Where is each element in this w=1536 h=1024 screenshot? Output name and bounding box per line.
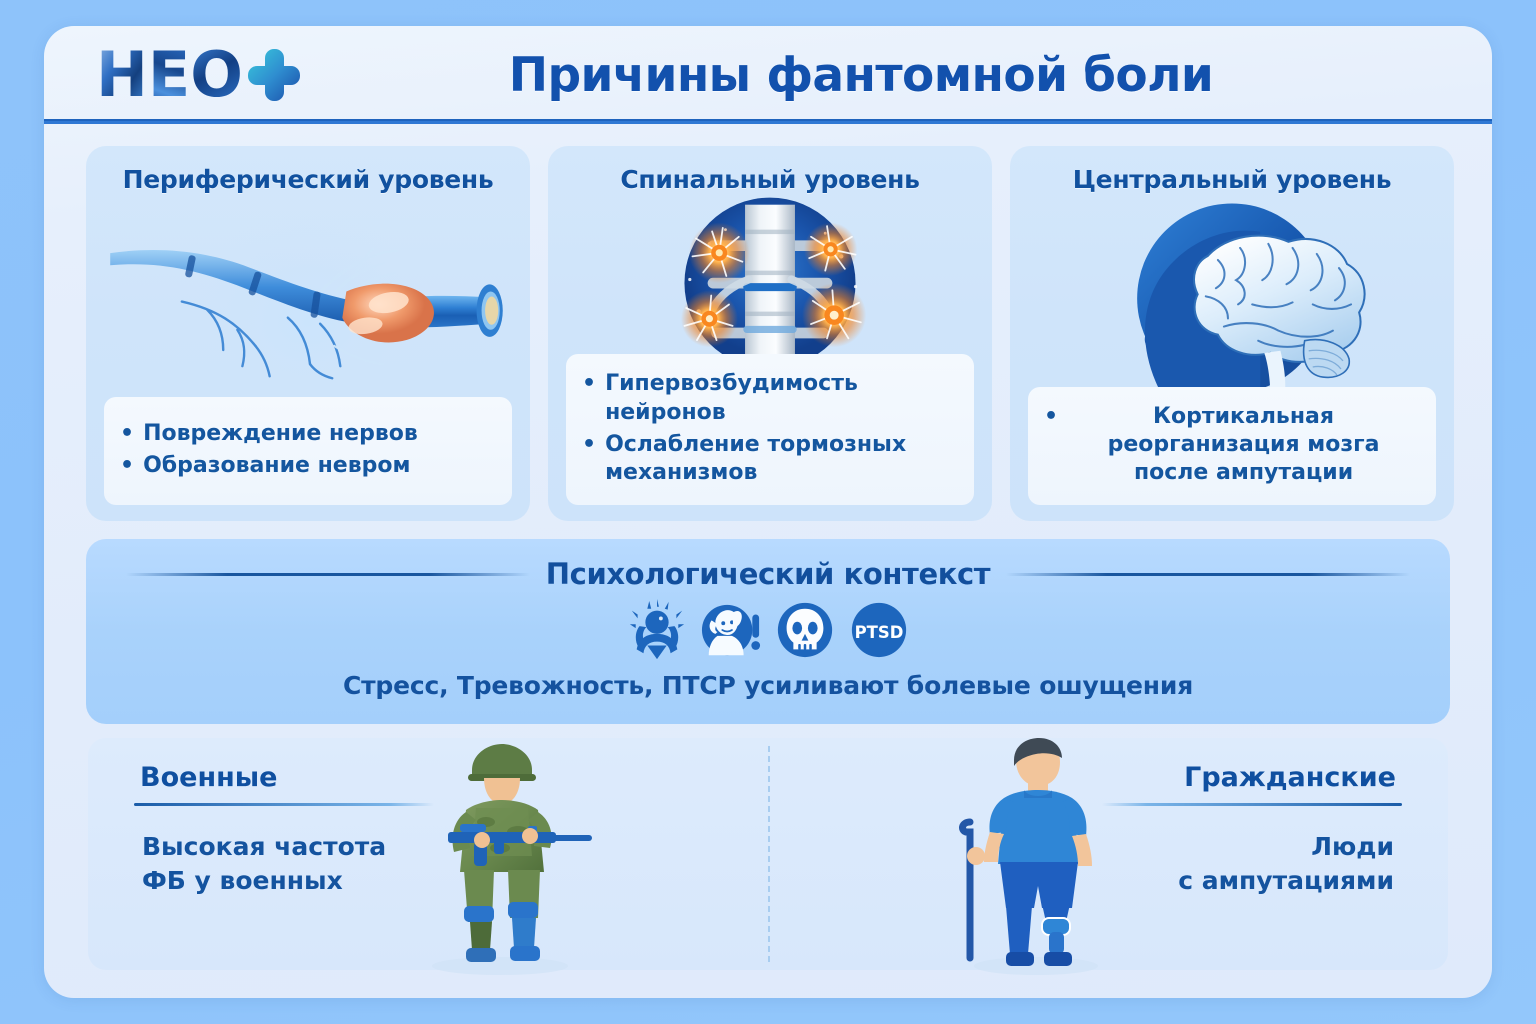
group-underline <box>1102 803 1402 806</box>
poster-card: Н Е О Причины фантомной боли Периферичес… <box>44 26 1492 998</box>
psychological-context-panel: Психологический контекст <box>86 539 1450 724</box>
psych-header: Психологический контекст <box>86 557 1450 591</box>
level-bullets: • Гипервозбудимость нейронов • Ослаблени… <box>566 354 974 505</box>
level-card-spinal: Спинальный уровень <box>548 146 992 521</box>
skull-icon <box>774 599 836 661</box>
group-body-line2: с ампутациями <box>1110 864 1394 898</box>
psych-caption: Стресс, Тревожность, ПТСР усиливают боле… <box>86 671 1450 700</box>
anxious-person-exclamation-icon <box>700 599 762 661</box>
bullet-text: Кортикальная реорганизация мозга после а… <box>1067 403 1420 487</box>
groups-row: Военные Высокая частота ФБ у военных <box>88 738 1448 970</box>
level-title: Периферический уровень <box>123 165 494 194</box>
bullet-dot: • <box>582 370 596 398</box>
divider-right <box>1006 573 1410 576</box>
group-civilian: Гражданские Люди с ампутациями <box>768 738 1448 970</box>
page-title: Причины фантомной боли <box>300 48 1492 103</box>
psych-title: Психологический контекст <box>546 557 990 591</box>
group-body: Люди с ампутациями <box>1102 830 1402 898</box>
level-card-peripheral: Периферический уровень <box>86 146 530 521</box>
logo-letter-e: Е <box>148 44 189 106</box>
level-card-central: Центральный уровень <box>1010 146 1454 521</box>
neo-plus-logo: Н Е О <box>96 46 300 104</box>
bullet-dot: • <box>120 420 134 448</box>
group-body-line1: Люди <box>1110 830 1394 864</box>
group-body: Высокая частота ФБ у военных <box>134 830 434 898</box>
bullet-text: Гипервозбудимость нейронов <box>605 370 958 426</box>
group-underline <box>134 803 434 806</box>
logo-letter-o: О <box>190 44 242 106</box>
bullet-dot: • <box>120 452 134 480</box>
group-title: Гражданские <box>1102 762 1402 803</box>
group-text: Гражданские Люди с ампутациями <box>1102 762 1402 970</box>
bullet-text: Повреждение нервов <box>143 420 418 448</box>
group-text: Военные Высокая частота ФБ у военных <box>134 762 434 970</box>
bullet-item: • Гипервозбудимость нейронов <box>582 368 958 428</box>
group-body-line1: Высокая частота <box>142 830 426 864</box>
plus-icon <box>248 49 300 101</box>
level-title: Центральный уровень <box>1073 165 1391 194</box>
bullet-dot: • <box>1044 403 1058 431</box>
bullet-item: • Повреждение нервов <box>120 418 496 450</box>
bullet-text: Образование невром <box>143 452 410 480</box>
levels-row: Периферический уровень <box>44 124 1492 521</box>
bullet-item: • Ослабление тормозных механизмов <box>582 429 958 489</box>
level-title: Спинальный уровень <box>620 165 919 194</box>
group-military: Военные Высокая частота ФБ у военных <box>88 738 768 970</box>
stressed-person-icon <box>626 599 688 661</box>
level-bullets: • Кортикальная реорганизация мозга после… <box>1028 387 1436 505</box>
ptsd-label: PTSD <box>855 623 904 642</box>
bullet-dot: • <box>582 431 596 459</box>
bullet-item: • Образование невром <box>120 450 496 482</box>
brain-illustration <box>1010 194 1454 387</box>
bullet-text: Ослабление тормозных механизмов <box>605 431 958 487</box>
psych-icon-row: PTSD <box>86 599 1450 661</box>
spine-illustration <box>548 194 992 354</box>
group-body-line2: ФБ у военных <box>142 864 426 898</box>
bullet-item: • Кортикальная реорганизация мозга после… <box>1044 401 1420 489</box>
poster-header: Н Е О Причины фантомной боли <box>44 26 1492 124</box>
group-title: Военные <box>134 762 434 803</box>
logo-letter-n: Н <box>96 44 147 106</box>
nerve-illustration <box>86 194 530 397</box>
level-bullets: • Повреждение нервов • Образование невро… <box>104 397 512 505</box>
ptsd-badge-icon: PTSD <box>848 599 910 661</box>
divider-left <box>126 573 530 576</box>
